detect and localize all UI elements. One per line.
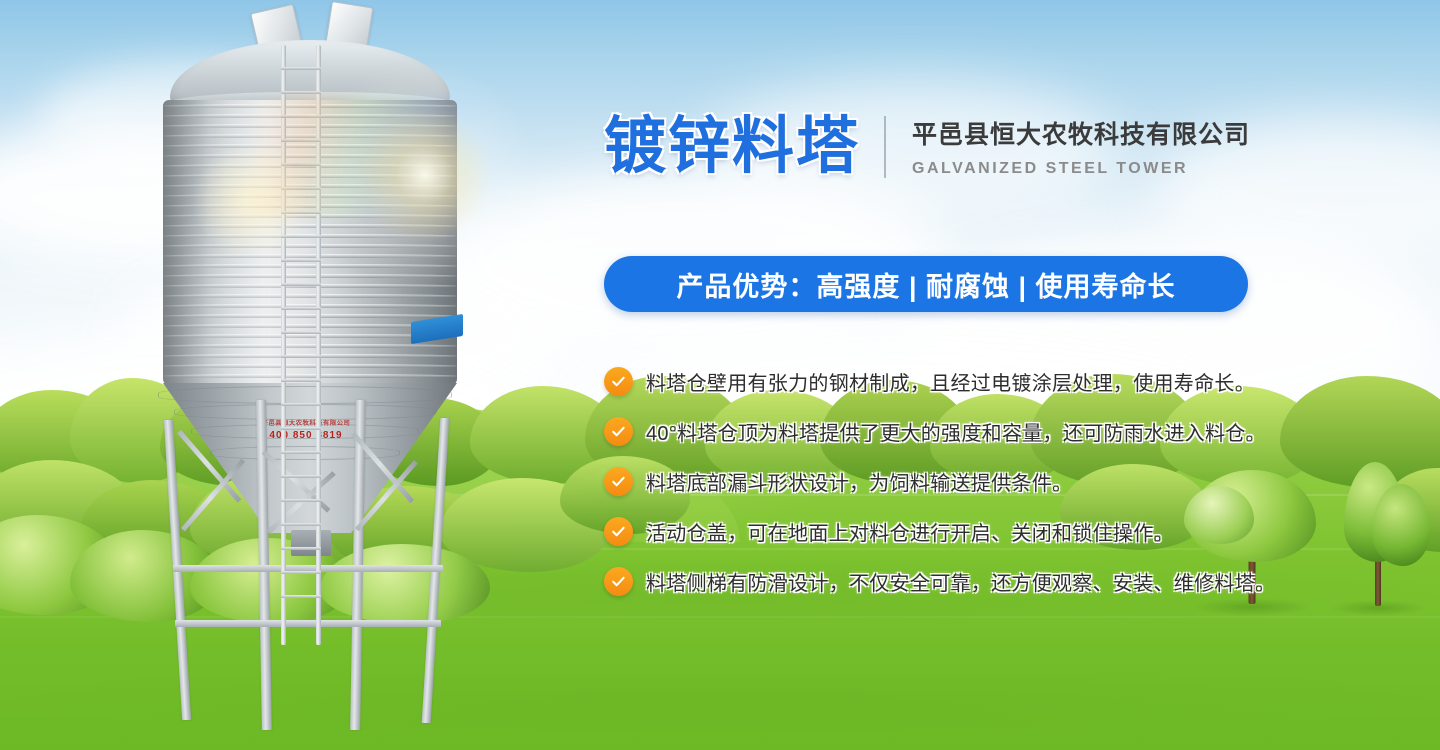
list-item: 料塔侧梯有防滑设计，不仅安全可靠，还方便观察、安装、维修料塔。	[604, 556, 1304, 606]
feature-list: 料塔仓壁用有张力的钢材制成，且经过电镀涂层处理，使用寿命长。 40°料塔仓顶为料…	[604, 356, 1304, 606]
list-item: 料塔仓壁用有张力的钢材制成，且经过电镀涂层处理，使用寿命长。	[604, 356, 1304, 406]
subtitle-english: GALVANIZED STEEL TOWER	[912, 160, 1250, 178]
feature-text: 料塔仓壁用有张力的钢材制成，且经过电镀涂层处理，使用寿命长。	[646, 367, 1255, 396]
list-item: 40°料塔仓顶为料塔提供了更大的强度和容量，还可防雨水进入料仓。	[604, 406, 1304, 456]
hero-banner: 平邑县恒大农牧科技有限公司 400 850 8819	[0, 0, 1440, 750]
feature-text: 料塔底部漏斗形状设计，为饲料输送提供条件。	[646, 467, 1072, 496]
check-circle-icon	[604, 567, 633, 596]
title-row: 镀锌料塔 平邑县恒大农牧科技有限公司 GALVANIZED STEEL TOWE…	[604, 115, 1250, 178]
list-item: 活动仓盖，可在地面上对料仓进行开启、关闭和锁住操作。	[604, 506, 1304, 556]
advantages-banner-text: 产品优势：高强度 | 耐腐蚀 | 使用寿命长	[676, 265, 1175, 304]
check-circle-icon	[604, 517, 633, 546]
feature-text: 40°料塔仓顶为料塔提供了更大的强度和容量，还可防雨水进入料仓。	[646, 417, 1266, 446]
check-circle-icon	[604, 367, 633, 396]
galvanized-feed-silo-image: 平邑县恒大农牧科技有限公司 400 850 8819	[95, 0, 515, 750]
hero-content: 镀锌料塔 平邑县恒大农牧科技有限公司 GALVANIZED STEEL TOWE…	[604, 0, 1304, 750]
page-title: 镀锌料塔	[604, 116, 860, 178]
company-name: 平邑县恒大农牧科技有限公司	[912, 115, 1250, 151]
check-circle-icon	[604, 417, 633, 446]
advantages-banner: 产品优势：高强度 | 耐腐蚀 | 使用寿命长	[604, 256, 1248, 312]
title-divider	[884, 116, 886, 178]
check-circle-icon	[604, 467, 633, 496]
list-item: 料塔底部漏斗形状设计，为饲料输送提供条件。	[604, 456, 1304, 506]
feature-text: 活动仓盖，可在地面上对料仓进行开启、关闭和锁住操作。	[646, 517, 1174, 546]
feature-text: 料塔侧梯有防滑设计，不仅安全可靠，还方便观察、安装、维修料塔。	[646, 567, 1275, 596]
tree	[1328, 472, 1428, 612]
silo-ladder	[281, 45, 321, 645]
